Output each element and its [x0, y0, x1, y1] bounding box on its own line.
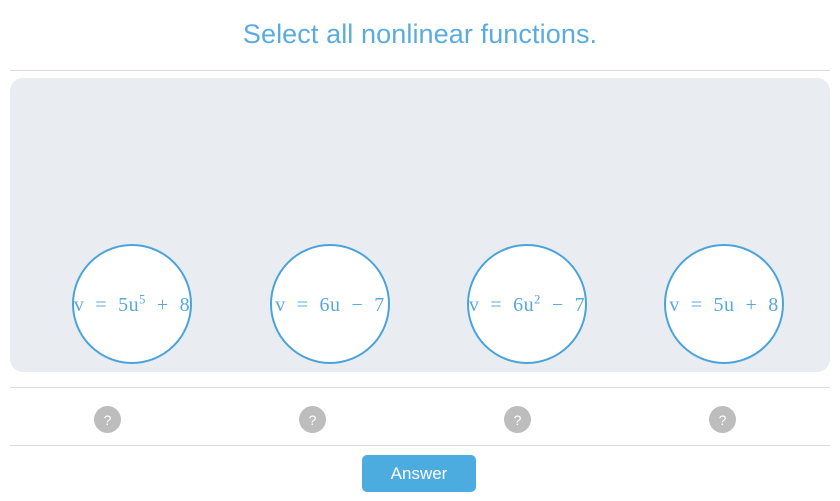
option-3-lhs: v	[469, 294, 480, 316]
option-1-coefficient: 5u	[118, 294, 139, 316]
question-mark-icon: ?	[309, 413, 317, 427]
option-formula-4: v = 5u + 8	[669, 294, 779, 317]
quiz-page: Select all nonlinear functions. v = 5u5 …	[0, 0, 840, 501]
option-4-constant: 8	[768, 294, 779, 316]
option-4-lhs: v	[669, 294, 680, 316]
question-mark-icon: ?	[514, 413, 522, 427]
hint-button-1[interactable]: ?	[94, 406, 121, 433]
option-4-operator: +	[746, 294, 758, 316]
option-formula-2: v = 6u − 7	[275, 294, 385, 317]
answer-options-panel: v = 5u5 + 8 v = 6u − 7 v = 6u2 − 7 v = 5…	[10, 78, 830, 372]
hint-button-2[interactable]: ?	[299, 406, 326, 433]
option-2-equals: =	[297, 294, 309, 316]
option-1-operator: +	[157, 294, 169, 316]
option-circle-3[interactable]: v = 6u2 − 7	[467, 244, 587, 364]
divider-middle	[10, 387, 830, 388]
option-1-lhs: v	[74, 294, 85, 316]
option-2-coefficient: 6u	[320, 294, 341, 316]
option-1-equals: =	[95, 294, 107, 316]
option-formula-3: v = 6u2 − 7	[469, 294, 585, 317]
divider-top	[10, 70, 830, 71]
option-1-exponent: 5	[139, 292, 146, 306]
option-3-constant: 7	[575, 294, 586, 316]
answer-button[interactable]: Answer	[362, 455, 476, 492]
option-1-constant: 8	[180, 294, 191, 316]
option-circle-2[interactable]: v = 6u − 7	[270, 244, 390, 364]
option-3-operator: −	[552, 294, 564, 316]
page-title: Select all nonlinear functions.	[0, 16, 840, 52]
hint-button-4[interactable]: ?	[709, 406, 736, 433]
option-circle-4[interactable]: v = 5u + 8	[664, 244, 784, 364]
hint-button-3[interactable]: ?	[504, 406, 531, 433]
option-2-operator: −	[352, 294, 364, 316]
question-mark-icon: ?	[719, 413, 727, 427]
option-formula-1: v = 5u5 + 8	[74, 294, 190, 317]
option-4-equals: =	[691, 294, 703, 316]
option-3-coefficient: 6u	[513, 294, 534, 316]
option-2-constant: 7	[374, 294, 385, 316]
option-3-equals: =	[490, 294, 502, 316]
option-4-coefficient: 5u	[714, 294, 735, 316]
option-2-lhs: v	[275, 294, 286, 316]
divider-bottom	[10, 445, 830, 446]
answer-button-label: Answer	[391, 464, 448, 484]
option-circle-1[interactable]: v = 5u5 + 8	[72, 244, 192, 364]
option-3-exponent: 2	[534, 292, 541, 306]
question-mark-icon: ?	[104, 413, 112, 427]
